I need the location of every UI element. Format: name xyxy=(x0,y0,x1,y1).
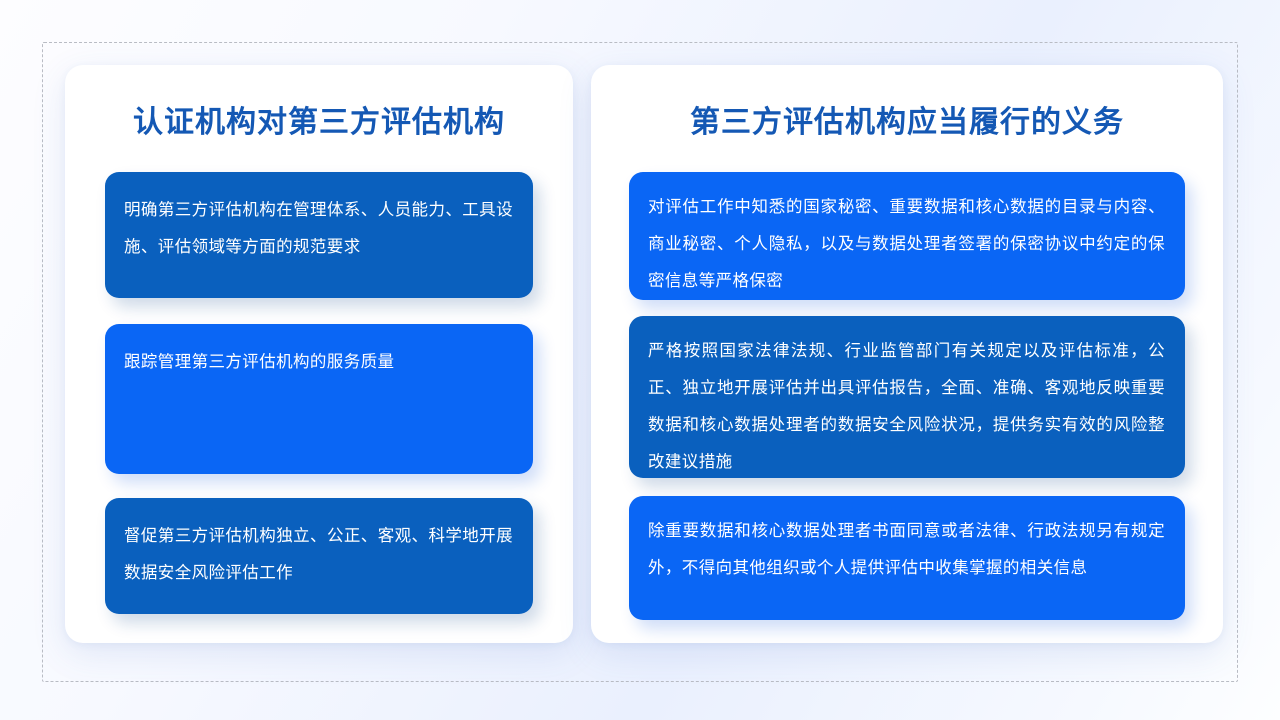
card-title-left: 认证机构对第三方评估机构 xyxy=(85,108,553,138)
item-list-right: 对评估工作中知悉的国家秘密、重要数据和核心数据的目录与内容、商业秘密、个人隐私，… xyxy=(609,172,1205,643)
card-left-column: 认证机构对第三方评估机构 明确第三方评估机构在管理体系、人员能力、工具设施、评估… xyxy=(65,65,573,643)
list-item-text: 督促第三方评估机构独立、公正、客观、科学地开展数据安全风险评估工作 xyxy=(124,518,513,592)
list-item[interactable]: 对评估工作中知悉的国家秘密、重要数据和核心数据的目录与内容、商业秘密、个人隐私，… xyxy=(629,172,1185,300)
card-title-right: 第三方评估机构应当履行的义务 xyxy=(609,108,1205,138)
content-columns: 认证机构对第三方评估机构 明确第三方评估机构在管理体系、人员能力、工具设施、评估… xyxy=(65,65,1223,643)
list-item-text: 对评估工作中知悉的国家秘密、重要数据和核心数据的目录与内容、商业秘密、个人隐私，… xyxy=(648,189,1165,300)
list-item[interactable]: 跟踪管理第三方评估机构的服务质量 xyxy=(105,324,533,474)
list-item-text: 明确第三方评估机构在管理体系、人员能力、工具设施、评估领域等方面的规范要求 xyxy=(124,192,513,266)
list-item[interactable]: 严格按照国家法律法规、行业监管部门有关规定以及评估标准，公正、独立地开展评估并出… xyxy=(629,316,1185,478)
list-item[interactable]: 明确第三方评估机构在管理体系、人员能力、工具设施、评估领域等方面的规范要求 xyxy=(105,172,533,298)
item-list-left: 明确第三方评估机构在管理体系、人员能力、工具设施、评估领域等方面的规范要求 跟踪… xyxy=(85,172,553,643)
list-item-text: 除重要数据和核心数据处理者书面同意或者法律、行政法规另有规定外，不得向其他组织或… xyxy=(648,513,1165,587)
card-right-column: 第三方评估机构应当履行的义务 对评估工作中知悉的国家秘密、重要数据和核心数据的目… xyxy=(591,65,1223,643)
list-item-text: 跟踪管理第三方评估机构的服务质量 xyxy=(124,344,513,381)
list-item[interactable]: 督促第三方评估机构独立、公正、客观、科学地开展数据安全风险评估工作 xyxy=(105,498,533,614)
list-item-text: 严格按照国家法律法规、行业监管部门有关规定以及评估标准，公正、独立地开展评估并出… xyxy=(648,333,1165,481)
list-item[interactable]: 除重要数据和核心数据处理者书面同意或者法律、行政法规另有规定外，不得向其他组织或… xyxy=(629,496,1185,620)
